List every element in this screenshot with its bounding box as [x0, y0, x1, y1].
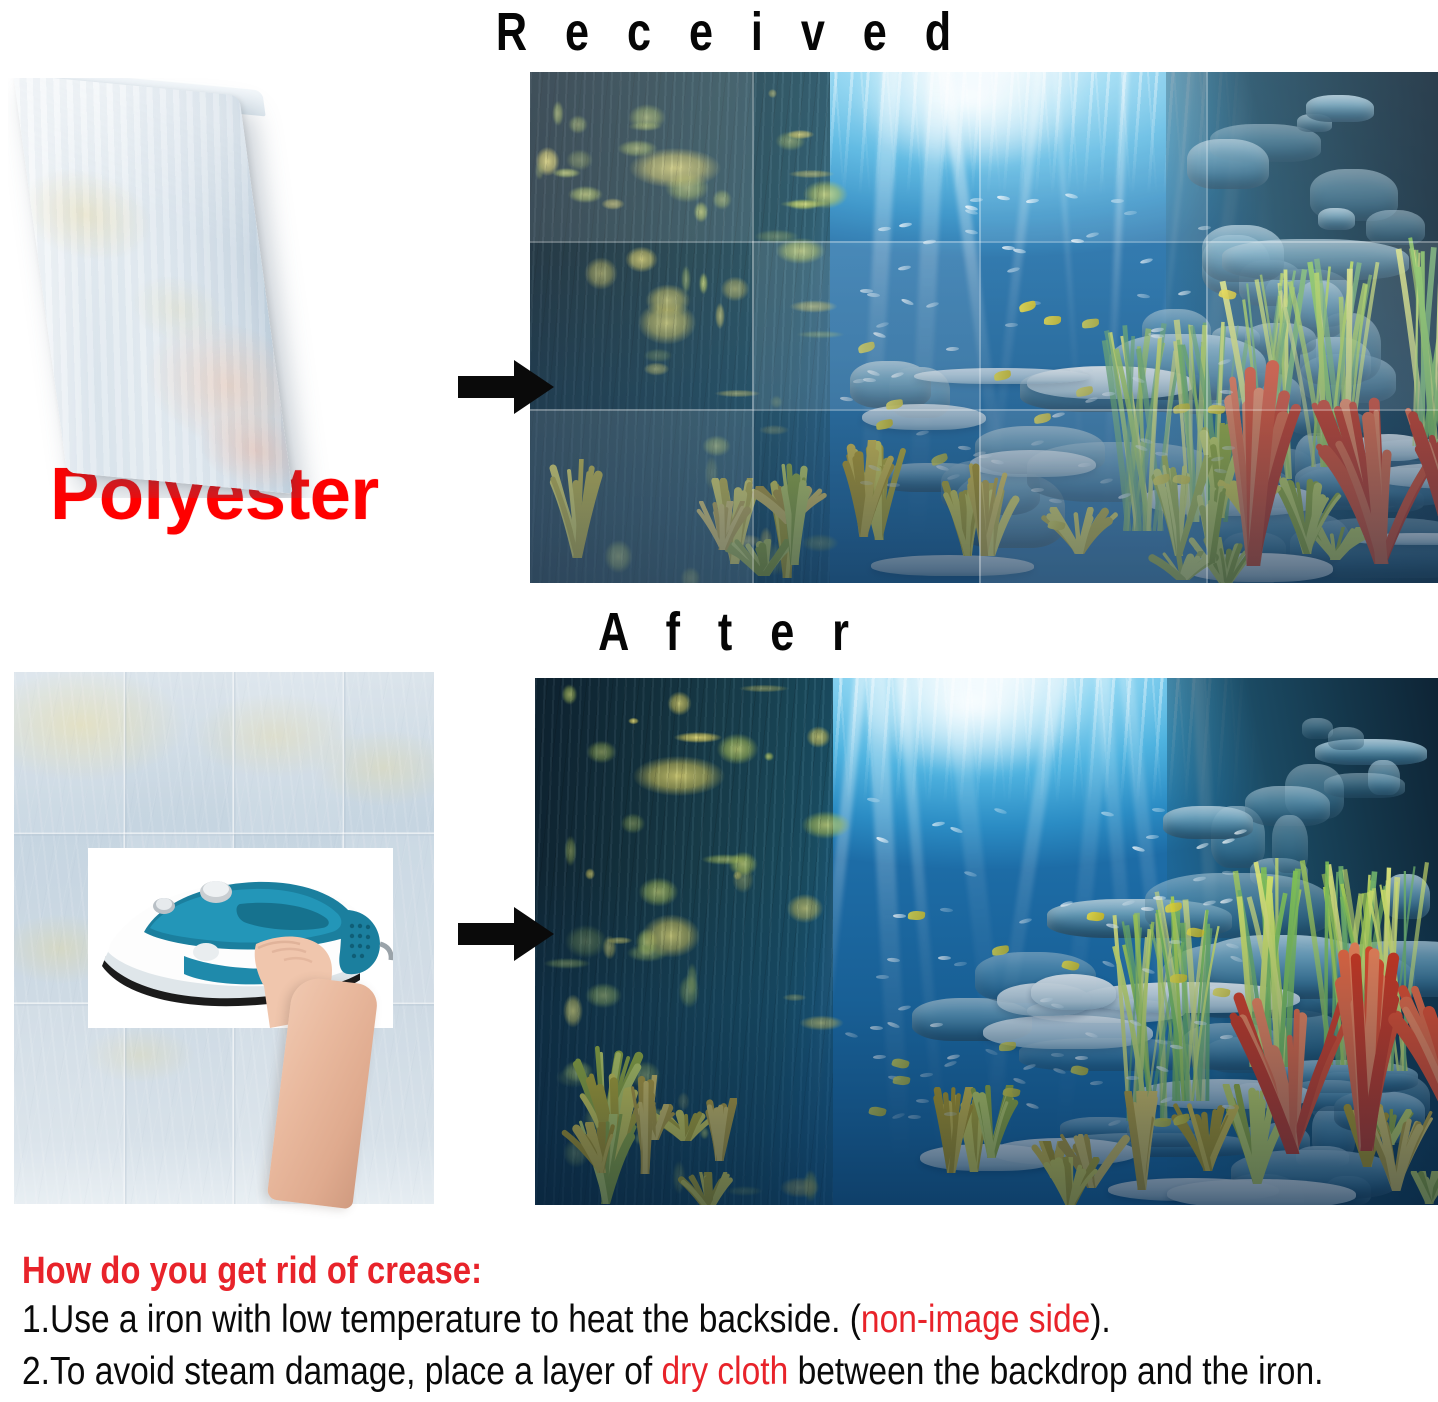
folded-fabric-image — [8, 78, 438, 498]
fold-panel — [14, 672, 123, 832]
instruction-line-1: 1.Use a iron with low temperature to hea… — [22, 1294, 1226, 1346]
instruction-1-part-a: 1.Use a iron with low temperature to hea… — [22, 1298, 861, 1341]
instruction-2-part-a: 2.To avoid steam damage, place a layer o… — [22, 1350, 661, 1393]
fold-panel — [232, 672, 341, 832]
reef-received-image — [530, 72, 1438, 583]
instruction-1-part-b: ). — [1090, 1298, 1110, 1341]
instructions-title: How do you get rid of crease: — [22, 1248, 1226, 1294]
instruction-line-2: 2.To avoid steam damage, place a layer o… — [22, 1346, 1226, 1398]
instruction-2-part-b: between the backdrop and the iron. — [788, 1350, 1323, 1393]
right-arrow-icon — [458, 905, 554, 963]
instructions-block: How do you get rid of crease: 1.Use a ir… — [22, 1248, 1422, 1398]
instruction-2-highlight: dry cloth — [661, 1350, 788, 1393]
fabric-roll — [13, 78, 292, 494]
page-title-after: A f t e r — [490, 602, 970, 662]
deep-water-shade — [535, 678, 1438, 1205]
instruction-1-highlight: non-image side — [861, 1298, 1090, 1341]
fold-panel — [14, 1002, 123, 1204]
right-arrow-icon — [458, 358, 554, 416]
page-title-received: R e c e i v e d — [450, 2, 1010, 62]
reef-after-image — [535, 678, 1438, 1205]
crease-haze — [530, 72, 1438, 583]
